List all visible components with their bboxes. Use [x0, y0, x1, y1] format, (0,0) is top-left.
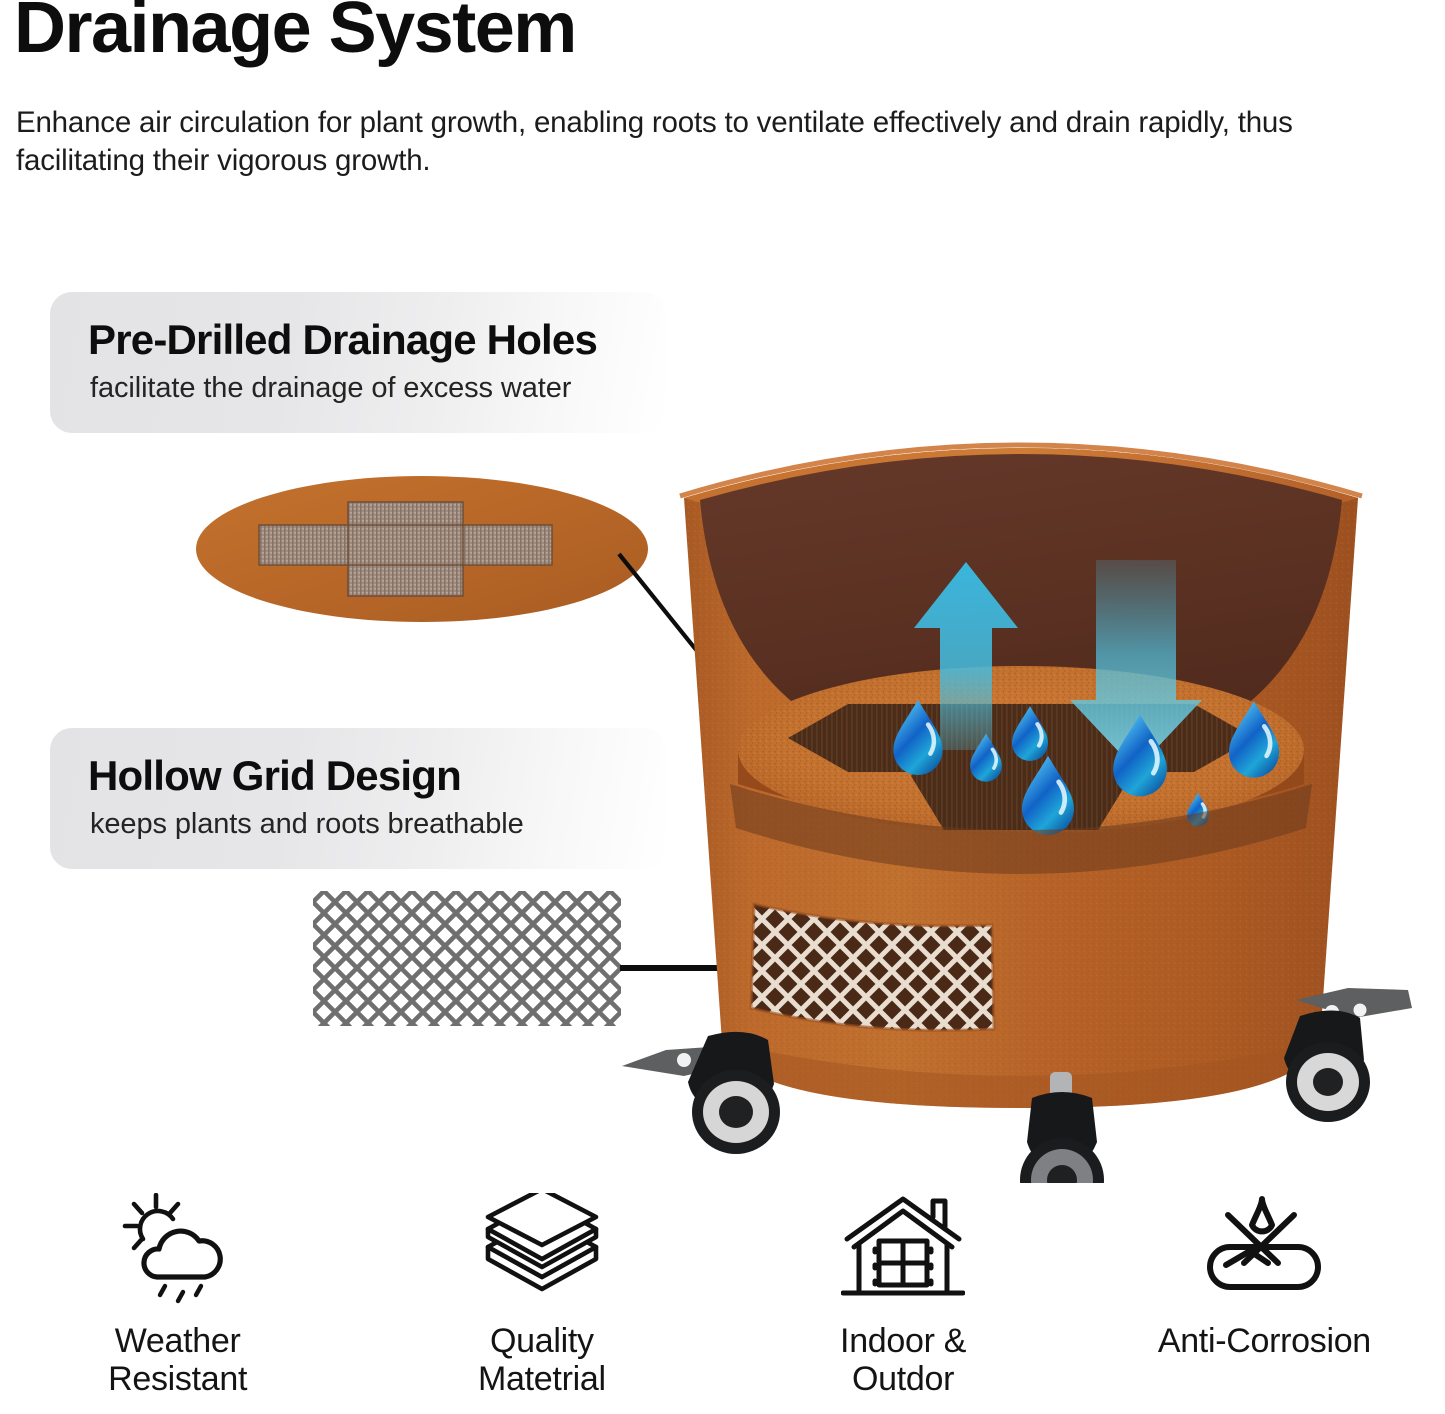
feature-weather-resistant: Weather Resistant [0, 1190, 361, 1399]
house-icon [841, 1190, 965, 1308]
page-subtitle: Enhance air circulation for plant growth… [16, 104, 1306, 180]
caster-left [622, 1032, 780, 1154]
feature-indoor-outdoor-label: Indoor & Outdor [840, 1322, 966, 1399]
feature-anti-corrosion: Anti-Corrosion [1084, 1190, 1445, 1360]
drain-hole-detail-swatch [196, 476, 648, 622]
callout-hollow-grid-title: Hollow Grid Design [88, 754, 636, 798]
sun-cloud-rain-icon [121, 1190, 241, 1308]
layers-stack-icon [478, 1190, 606, 1308]
feature-anti-corrosion-label: Anti-Corrosion [1158, 1322, 1371, 1360]
callout-drainage-holes-subtitle: facilitate the drainage of excess water [90, 372, 636, 405]
callout-drainage-holes-title: Pre-Drilled Drainage Holes [88, 318, 636, 362]
product-illustration [606, 438, 1436, 1183]
callout-hollow-grid-subtitle: keeps plants and roots breathable [90, 808, 636, 841]
feature-row: Weather Resistant Quality Matetrial [0, 1190, 1445, 1414]
droplet-surface-icon [1194, 1190, 1334, 1308]
callout-hollow-grid: Hollow Grid Design keeps plants and root… [50, 728, 666, 869]
feature-weather-resistant-label: Weather Resistant [108, 1322, 253, 1399]
page-title: Drainage System [14, 0, 1414, 64]
callout-drainage-holes: Pre-Drilled Drainage Holes facilitate th… [50, 292, 666, 433]
mesh-detail-swatch [313, 891, 621, 1026]
feature-quality-material: Quality Matetrial [361, 1190, 722, 1399]
feature-quality-material-label: Quality Matetrial [478, 1322, 606, 1399]
feature-indoor-outdoor: Indoor & Outdor [723, 1190, 1084, 1399]
